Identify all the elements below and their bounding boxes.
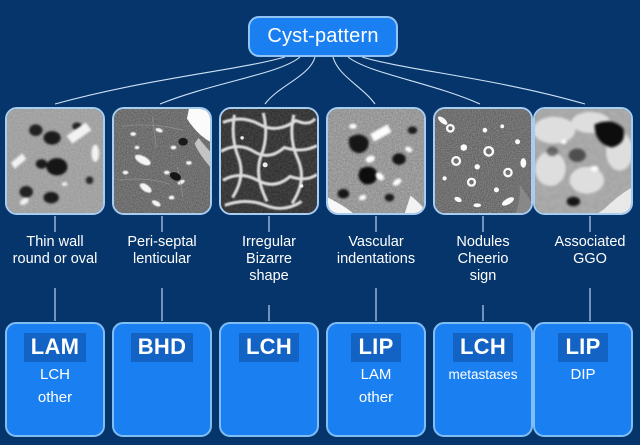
diagnosis-acronym: LCH — [453, 333, 513, 362]
descriptor-line: Associated — [532, 234, 640, 251]
descriptor-line: GGO — [532, 251, 640, 268]
ct-associated-ggo — [533, 107, 633, 215]
diagnosis-box-lip-lam[interactable]: LIP LAM other — [326, 322, 426, 437]
descriptor-line: Thin wall — [0, 234, 113, 251]
descriptor-line: lenticular — [104, 251, 220, 268]
descriptor-associated-ggo: Associated GGO — [532, 234, 640, 268]
diagnosis-subentry: metastases — [435, 365, 531, 385]
ct-thin-wall-round-oval — [5, 107, 105, 215]
descriptor-line: indentations — [318, 251, 434, 268]
diagnosis-subentry: other — [328, 388, 424, 408]
descriptor-line: Nodules — [425, 234, 541, 251]
diagnosis-box-lch-metastases[interactable]: LCH metastases — [433, 322, 533, 437]
diagnosis-subentry: DIP — [535, 365, 631, 385]
ct-vascular-indentations — [326, 107, 426, 215]
descriptor-line: Vascular — [318, 234, 434, 251]
diagnosis-acronym: LAM — [24, 333, 87, 362]
descriptor-line: Peri-septal — [104, 234, 220, 251]
diagnosis-subentry: other — [7, 388, 103, 408]
descriptor-line: Bizarre — [211, 251, 327, 268]
diagnosis-acronym: LIP — [558, 333, 607, 362]
ct-nodules-cheerio-sign — [433, 107, 533, 215]
cyst-pattern-diagram: Cyst-pattern — [0, 0, 640, 445]
descriptor-line: sign — [425, 268, 541, 285]
ct-irregular-bizarre-shape — [219, 107, 319, 215]
descriptor-line: Cheerio — [425, 251, 541, 268]
descriptor-line: shape — [211, 268, 327, 285]
descriptor-thin-wall-round-oval: Thin wall round or oval — [0, 234, 113, 268]
diagnosis-box-bhd[interactable]: BHD — [112, 322, 212, 437]
diagnosis-acronym: LCH — [239, 333, 299, 362]
diagnosis-subentry: LCH — [7, 365, 103, 385]
diagnosis-box-lam[interactable]: LAM LCH other — [5, 322, 105, 437]
diagnosis-subentry: LAM — [328, 365, 424, 385]
descriptor-peri-septal-lenticular: Peri-septal lenticular — [104, 234, 220, 268]
descriptor-irregular-bizarre-shape: Irregular Bizarre shape — [211, 234, 327, 285]
page-title: Cyst-pattern — [248, 16, 398, 57]
descriptor-nodules-cheerio-sign: Nodules Cheerio sign — [425, 234, 541, 285]
diagnosis-box-lip-dip[interactable]: LIP DIP — [533, 322, 633, 437]
diagnosis-acronym: LIP — [351, 333, 400, 362]
ct-peri-septal-lenticular — [112, 107, 212, 215]
diagnosis-box-lch[interactable]: LCH — [219, 322, 319, 437]
descriptor-vascular-indentations: Vascular indentations — [318, 234, 434, 268]
descriptor-line: round or oval — [0, 251, 113, 268]
diagnosis-acronym: BHD — [131, 333, 194, 362]
descriptor-line: Irregular — [211, 234, 327, 251]
